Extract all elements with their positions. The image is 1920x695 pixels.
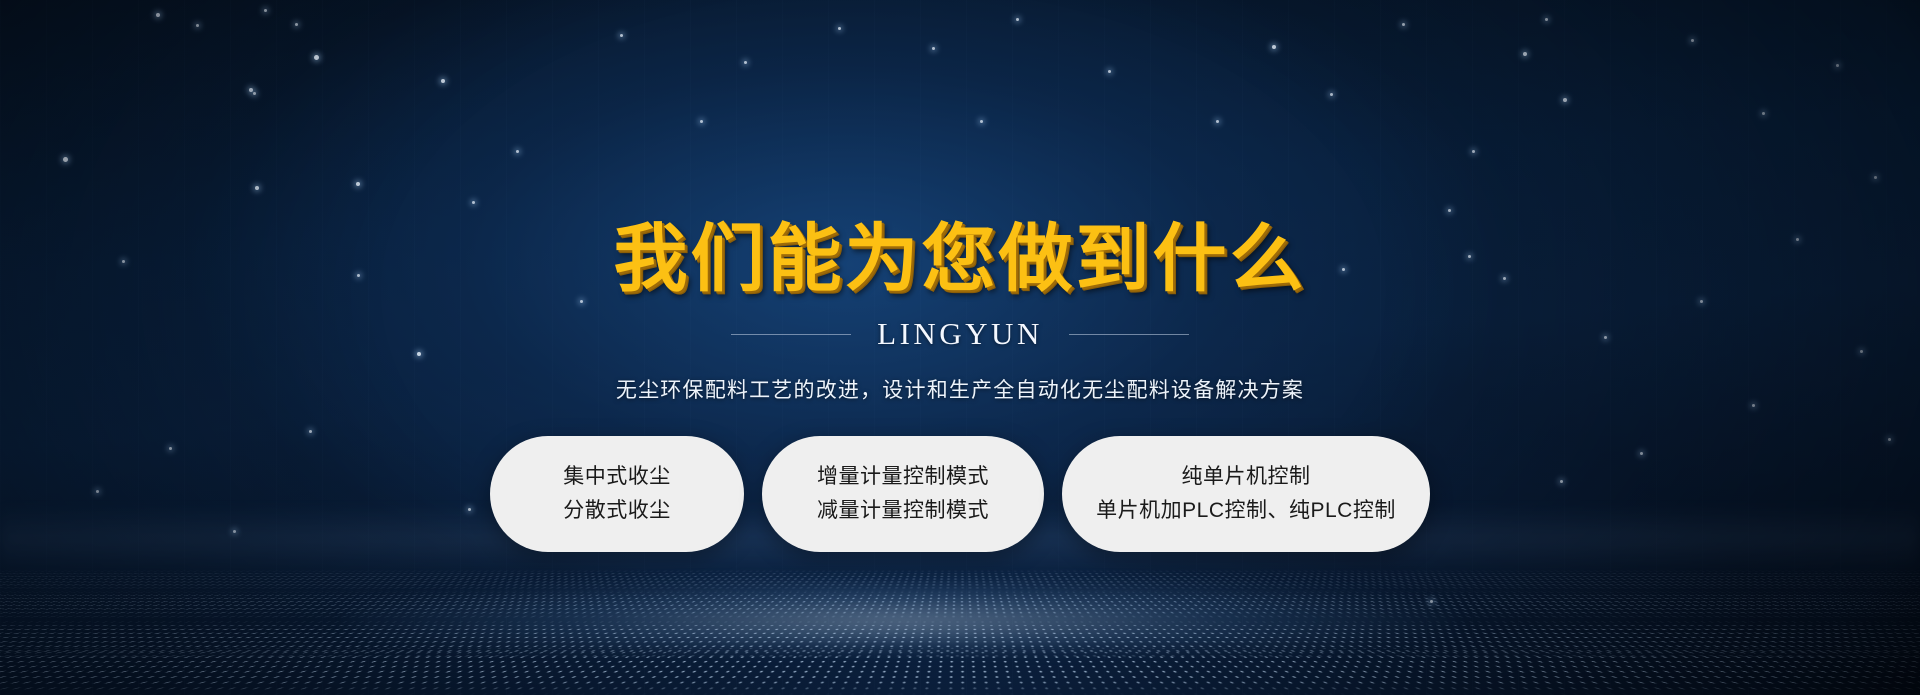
feature-card-dust-collection[interactable]: 集中式收尘 分散式收尘 — [490, 436, 744, 552]
feature-card-line: 集中式收尘 — [563, 466, 671, 488]
feature-card-line: 减量计量控制模式 — [817, 500, 989, 522]
brand-row: LINGYUN — [731, 316, 1189, 352]
feature-card-line: 单片机加PLC控制、纯PLC控制 — [1096, 500, 1396, 522]
brand-rule-right — [1069, 334, 1189, 335]
brand-name: LINGYUN — [877, 316, 1043, 352]
feature-card-list: 集中式收尘 分散式收尘 增量计量控制模式 减量计量控制模式 纯单片机控制 单片机… — [490, 436, 1430, 552]
page-subtitle: 无尘环保配料工艺的改进，设计和生产全自动化无尘配料设备解决方案 — [616, 374, 1304, 404]
brand-rule-left — [731, 334, 851, 335]
banner-content: 我们能为您做到什么 LINGYUN 无尘环保配料工艺的改进，设计和生产全自动化无… — [0, 0, 1920, 695]
feature-card-line: 纯单片机控制 — [1182, 466, 1311, 488]
feature-card-metering-mode[interactable]: 增量计量控制模式 减量计量控制模式 — [762, 436, 1044, 552]
page-title: 我们能为您做到什么 — [614, 222, 1307, 296]
feature-card-control-system[interactable]: 纯单片机控制 单片机加PLC控制、纯PLC控制 — [1062, 436, 1430, 552]
hero-banner: 我们能为您做到什么 LINGYUN 无尘环保配料工艺的改进，设计和生产全自动化无… — [0, 0, 1920, 695]
feature-card-line: 分散式收尘 — [563, 500, 671, 522]
feature-card-line: 增量计量控制模式 — [817, 466, 989, 488]
